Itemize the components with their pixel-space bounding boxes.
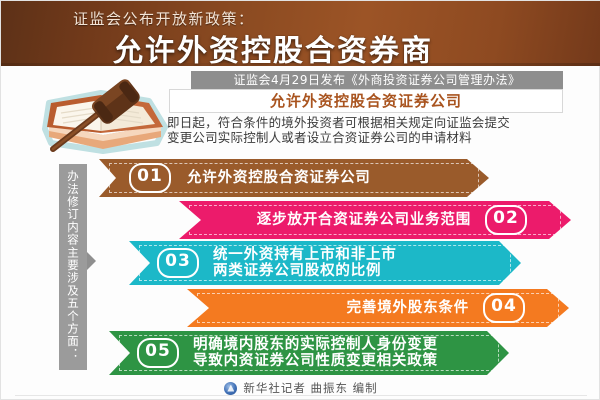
notice-highlight: 允许外资控股合资证券公司: [169, 89, 563, 113]
banner-number: 04: [483, 293, 525, 323]
banner-label-line: 明确境内股东的实际控制人身份变更: [193, 337, 438, 353]
banner-label-line: 统一外资持有上市和非上市: [213, 247, 397, 263]
banner-number: 02: [485, 205, 527, 235]
banner-label: 完善境外股东条件: [347, 300, 469, 316]
banner-label-line: 逐步放开合资证券公司业务范围: [257, 212, 471, 228]
banner-label-line: 两类证券公司股权的比例: [213, 263, 397, 279]
xinhua-logo-icon: [224, 382, 237, 395]
banner-number: 05: [137, 338, 179, 368]
vertical-section-label-text: 办法修订内容主要涉及五个方面：: [59, 170, 87, 366]
banner-label-line: 完善境外股东条件: [347, 300, 469, 316]
banner-label: 允许外资控股合资证券公司: [187, 170, 371, 186]
banner-item-02[interactable]: 逐步放开合资证券公司业务范围 02: [179, 201, 571, 239]
header-banner: 证监会公布开放新政策： 允许外资控股合资券商: [1, 1, 600, 66]
banner-number: 03: [157, 248, 199, 278]
notice-bar: 证监会4月29日发布《外商投资证券公司管理办法》: [191, 71, 563, 89]
infographic-page: 证监会公布开放新政策： 允许外资控股合资券商: [0, 0, 600, 400]
vertical-section-label: 办法修订内容主要涉及五个方面：: [59, 164, 87, 370]
notice-body-line: 即日起，符合条件的境外投资者可根据相关规定向证监会提交: [167, 115, 569, 130]
notice-body: 即日起，符合条件的境外投资者可根据相关规定向证监会提交 变更公司实际控制人或者设…: [167, 115, 569, 145]
banner-item-01[interactable]: 01 允许外资控股合资证券公司: [99, 159, 489, 197]
footer-divider: [15, 395, 587, 396]
pointer-arrow-icon: [87, 252, 96, 270]
page-title: 允许外资控股合资券商: [113, 26, 433, 66]
banner-item-04[interactable]: 完善境外股东条件 04: [187, 289, 569, 327]
banner-label: 逐步放开合资证券公司业务范围: [257, 212, 471, 228]
banner-label-line: 允许外资控股合资证券公司: [187, 170, 371, 186]
banner-label: 明确境内股东的实际控制人身份变更 导致内资证券公司性质变更相关政策: [193, 337, 438, 369]
footer-credit: 新华社记者 曲振东 编制: [243, 380, 377, 396]
banner-item-03[interactable]: 03 统一外资持有上市和非上市 两类证券公司股权的比例: [129, 241, 521, 285]
banner-label: 统一外资持有上市和非上市 两类证券公司股权的比例: [213, 247, 397, 279]
banner-label-line: 导致内资证券公司性质变更相关政策: [193, 353, 438, 369]
banner-number: 01: [129, 163, 171, 193]
notice-body-line: 变更公司实际控制人或者设立合资证券公司的申请材料: [167, 130, 569, 145]
banner-item-05[interactable]: 05 明确境内股东的实际控制人身份变更 导致内资证券公司性质变更相关政策: [109, 331, 509, 375]
